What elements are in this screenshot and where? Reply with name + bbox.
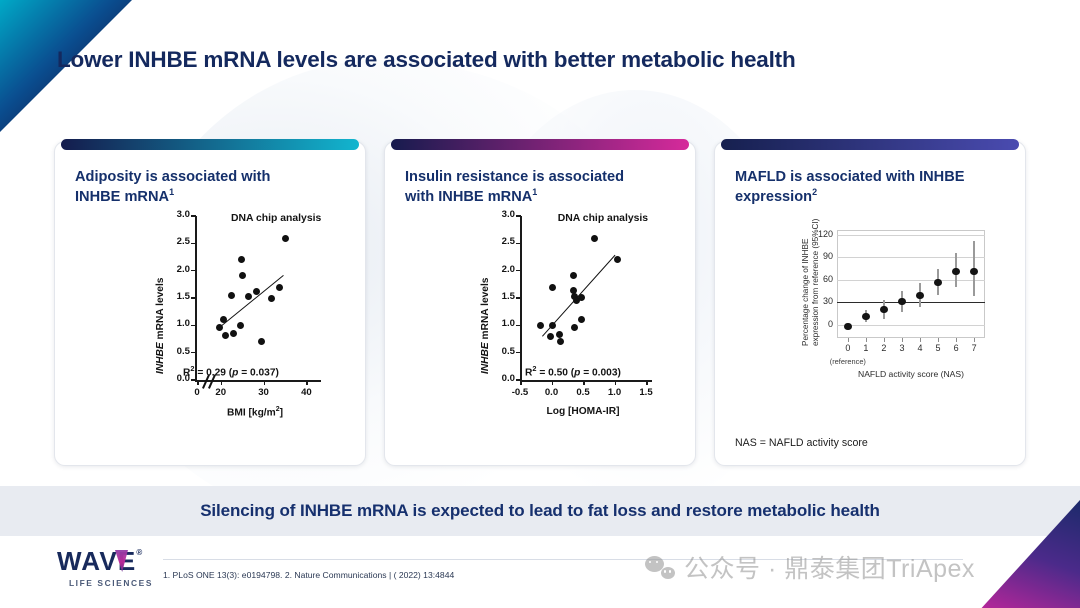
page-number: 32	[1048, 12, 1059, 23]
data-point	[898, 298, 905, 305]
y-tick-label: 0.5	[487, 346, 515, 357]
y-tick-label: 3.0	[487, 209, 515, 220]
x-tick	[956, 338, 957, 342]
data-point	[268, 295, 275, 302]
y-tick	[191, 325, 196, 327]
y-tick	[191, 270, 196, 272]
regression-annotation: R2 = 0.29 (p = 0.037)	[183, 364, 279, 378]
x-tick	[902, 338, 903, 342]
y-tick	[191, 352, 196, 354]
x-axis-title: BMI [kg/m2]	[195, 406, 315, 418]
y-axis-title: INHBE mRNA levels	[480, 278, 491, 374]
x-tick-label: 7	[972, 343, 977, 353]
reference-list: 1. PLoS ONE 13(3): e0194798. 2. Nature C…	[163, 570, 454, 580]
data-point	[844, 323, 851, 330]
wave-life-sciences-logo: WAVE ® LIFE SCIENCES	[57, 548, 165, 588]
x-tick	[306, 380, 308, 385]
x-tick-label: 0	[845, 343, 850, 353]
logo-tagline: LIFE SCIENCES	[57, 578, 165, 588]
y-tick-label: 0.0	[487, 373, 515, 384]
plot-frame	[837, 230, 985, 338]
data-point	[537, 322, 544, 329]
gridline	[837, 235, 985, 236]
data-point	[862, 313, 869, 320]
y-tick-label: 2.0	[162, 264, 190, 275]
y-tick-label: 1.5	[162, 291, 190, 302]
chart-insulin-scatter: 0.00.51.01.52.02.53.0-0.50.00.51.01.5DNA…	[385, 142, 697, 467]
chart-title: DNA chip analysis	[558, 213, 648, 224]
data-point	[253, 288, 260, 295]
y-tick	[516, 352, 521, 354]
data-point	[916, 292, 923, 299]
wechat-watermark: 公众号 · 鼎泰集团TriApex	[645, 549, 975, 585]
data-point	[245, 293, 252, 300]
x-axis-title: Log [HOMA-IR]	[520, 406, 646, 417]
y-tick	[516, 325, 521, 327]
x-tick-label: 1.0	[599, 387, 631, 398]
x-tick-label: 2	[881, 343, 886, 353]
data-point	[571, 324, 578, 331]
data-point	[880, 306, 887, 313]
y-axis-title: INHBE mRNA levels	[155, 278, 166, 374]
data-point	[557, 338, 564, 345]
data-point	[952, 268, 959, 275]
data-point	[614, 256, 621, 263]
takeaway-banner: Silencing of INHBE mRNA is expected to l…	[0, 486, 1080, 536]
panel-footnote-nas: NAS = NAFLD activity score	[735, 437, 868, 449]
x-tick	[646, 380, 648, 385]
x-tick	[866, 338, 867, 342]
data-point	[549, 284, 556, 291]
data-point	[228, 292, 235, 299]
data-point	[970, 268, 977, 275]
y-tick-label: 3.0	[162, 209, 190, 220]
x-tick-label: 20	[205, 387, 237, 398]
data-point	[230, 330, 237, 337]
x-tick-label: 5	[936, 343, 941, 353]
watermark-text: 公众号 · 鼎泰集团TriApex	[684, 549, 975, 585]
logo-wordmark: WAVE ®	[57, 548, 136, 574]
x-tick-label: 6	[954, 343, 959, 353]
logo-trademark: ®	[136, 549, 143, 557]
data-point	[239, 272, 246, 279]
x-tick-label: 0.0	[536, 387, 568, 398]
data-point	[282, 235, 289, 242]
data-point	[578, 316, 585, 323]
x-tick-label: 40	[290, 387, 322, 398]
gridline	[837, 257, 985, 258]
y-tick	[191, 243, 196, 245]
x-tick	[552, 380, 554, 385]
data-point	[578, 294, 585, 301]
data-point	[237, 322, 244, 329]
x-tick	[221, 380, 223, 385]
y-tick-label: 2.5	[162, 236, 190, 247]
y-tick	[516, 215, 521, 217]
chart-adiposity-scatter: 0.00.51.01.52.02.53.00203040DNA chip ana…	[55, 142, 367, 467]
x-tick	[197, 380, 199, 385]
data-point	[258, 338, 265, 345]
page-title: Lower INHBE mRNA levels are associated w…	[57, 47, 987, 73]
y-tick-label: 2.0	[487, 264, 515, 275]
x-tick	[884, 338, 885, 342]
x-tick-label: 0.5	[567, 387, 599, 398]
chart-mafld-forest: 030609012001234567(reference)NAFLD activ…	[715, 142, 1027, 467]
x-tick	[615, 380, 617, 385]
regression-annotation: R2 = 0.50 (p = 0.003)	[525, 364, 621, 378]
panel-mafld: MAFLD is associated with INHBE expressio…	[714, 141, 1026, 466]
x-tick-label: 1	[863, 343, 868, 353]
x-axis-line	[520, 380, 652, 382]
data-point	[276, 284, 283, 291]
y-tick-label: 1.0	[487, 318, 515, 329]
y-tick	[516, 243, 521, 245]
data-point	[549, 322, 556, 329]
data-point	[220, 316, 227, 323]
takeaway-text: Silencing of INHBE mRNA is expected to l…	[200, 501, 880, 521]
data-point	[934, 279, 941, 286]
x-tick	[938, 338, 939, 342]
chart-title: DNA chip analysis	[231, 213, 321, 224]
y-tick	[191, 379, 196, 381]
x-tick-label: 1.5	[630, 387, 662, 398]
data-point	[556, 331, 563, 338]
y-tick-label: 1.5	[487, 291, 515, 302]
x-tick-label: 3	[899, 343, 904, 353]
y-tick-label: 2.5	[487, 236, 515, 247]
slide-canvas: Lower INHBE mRNA levels are associated w…	[0, 0, 1080, 608]
x-tick	[920, 338, 921, 342]
data-point	[591, 235, 598, 242]
x-tick	[583, 380, 585, 385]
gridline	[837, 280, 985, 281]
data-point	[216, 324, 223, 331]
y-tick	[516, 297, 521, 299]
y-tick	[191, 215, 196, 217]
data-point	[222, 332, 229, 339]
regression-line	[218, 275, 284, 329]
x-axis-title: NAFLD activity score (NAS)	[858, 369, 964, 379]
x-tick	[974, 338, 975, 342]
y-tick	[516, 270, 521, 272]
panel-adiposity: Adiposity is associated with INHBE mRNA1…	[54, 141, 366, 466]
wechat-icon	[645, 556, 675, 579]
y-axis-title: Percentage change of INHBEexpression fro…	[801, 216, 821, 346]
x-tick	[848, 338, 849, 342]
x-tick-label: 4	[918, 343, 923, 353]
x-tick-label: -0.5	[504, 387, 536, 398]
x-tick-label: 30	[248, 387, 280, 398]
data-point	[570, 272, 577, 279]
x-tick	[520, 380, 522, 385]
gridline	[837, 325, 985, 326]
y-tick-label: 1.0	[162, 318, 190, 329]
y-tick-label: 0.5	[162, 346, 190, 357]
reference-note: (reference)	[830, 357, 866, 366]
data-point	[238, 256, 245, 263]
x-tick	[264, 380, 266, 385]
data-point	[547, 333, 554, 340]
panel-insulin-resistance: Insulin resistance is associated with IN…	[384, 141, 696, 466]
y-tick	[191, 297, 196, 299]
gridline	[837, 302, 985, 303]
